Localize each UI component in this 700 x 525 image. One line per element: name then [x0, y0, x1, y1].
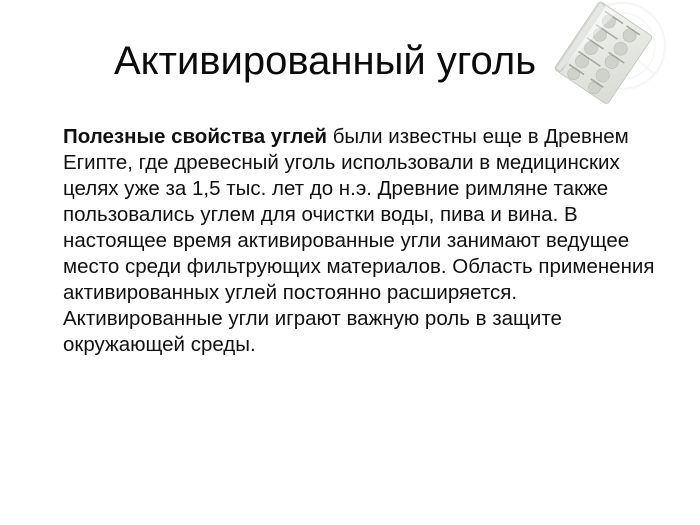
- body-remainder: были известны еще в Древнем Египте, где …: [63, 125, 654, 356]
- body-paragraph: Полезные свойства углей были известны ещ…: [63, 124, 663, 358]
- body-lead-phrase: Полезные свойства углей: [63, 125, 327, 148]
- page-title: Активированный уголь: [114, 38, 634, 84]
- presentation-slide: Активированный уголь: [0, 0, 700, 525]
- body-text-block: Полезные свойства углей были известны ещ…: [63, 124, 663, 358]
